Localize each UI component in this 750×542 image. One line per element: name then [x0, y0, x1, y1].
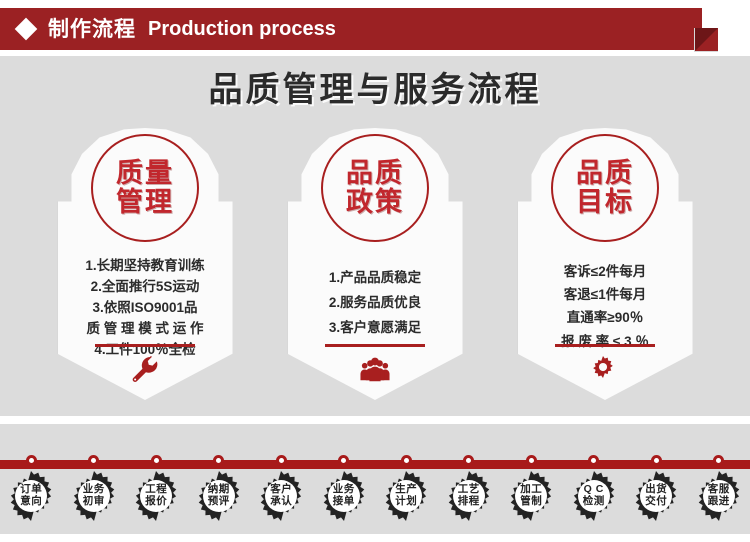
- people-group-icon: [360, 354, 390, 384]
- gear-badge-icon: 客户 承认: [255, 470, 307, 522]
- step-label: Q C 检测: [583, 484, 605, 508]
- wrench-icon: [130, 354, 160, 384]
- timeline-step[interactable]: 业务 初审: [66, 452, 122, 522]
- card-title-line1: 品质: [346, 159, 404, 188]
- timeline-step[interactable]: 生产 计划: [378, 452, 434, 522]
- timeline-dot-icon: [338, 455, 349, 466]
- card-title-circle: 品质 政策: [321, 134, 429, 242]
- list-item: 3.依照ISO9001品: [58, 298, 233, 319]
- gear-badge-icon: 纳期 预评: [193, 470, 245, 522]
- page-header: 制作流程 Production process: [0, 8, 750, 50]
- step-label: 出货 交付: [645, 484, 667, 508]
- card-title-line2: 目标: [576, 188, 634, 217]
- diamond-icon: [15, 18, 38, 41]
- quality-policy-card: 品质 政策 1.产品品质稳定 2.服务品质优良 3.客户意愿满足: [288, 128, 463, 400]
- timeline-step[interactable]: 出货 交付: [628, 452, 684, 522]
- list-item: 直通率≥90％: [518, 306, 693, 329]
- timeline-step[interactable]: 业务 接单: [316, 452, 372, 522]
- timeline-dot-icon: [276, 455, 287, 466]
- step-label: 订单 意向: [20, 484, 42, 508]
- page-title: 品质管理与服务流程: [0, 62, 750, 111]
- timeline-dot-icon: [151, 455, 162, 466]
- gear-badge-icon: 业务 初审: [68, 470, 120, 522]
- step-label: 业务 接单: [333, 484, 355, 508]
- list-item: 质 管 理 模 式 运 作: [58, 319, 233, 340]
- step-label-line2: 报价: [145, 496, 167, 508]
- card-title-line1: 品质: [576, 159, 634, 188]
- timeline-step[interactable]: 客服 跟进: [691, 452, 747, 522]
- card-title-circle: 品质 目标: [551, 134, 659, 242]
- timeline-dot-icon: [401, 455, 412, 466]
- card-title-line2: 政策: [346, 188, 404, 217]
- timeline-dot-icon: [26, 455, 37, 466]
- timeline-step[interactable]: 纳期 预评: [191, 452, 247, 522]
- gear-badge-icon: 工程 报价: [130, 470, 182, 522]
- gear-badge-icon: Q C 检测: [568, 470, 620, 522]
- gear-badge-icon: 订单 意向: [5, 470, 57, 522]
- card-row: 质量 管理 1.长期坚持教育训练 2.全面推行5S运动 3.依照ISO9001品…: [0, 128, 750, 400]
- step-label: 客户 承认: [270, 484, 292, 508]
- card-title-circle: 质量 管理: [91, 134, 199, 242]
- timeline-dot-icon: [588, 455, 599, 466]
- gear-badge-icon: 加工 管制: [505, 470, 557, 522]
- timeline-dot-icon: [651, 455, 662, 466]
- step-label-line2: 跟进: [708, 496, 730, 508]
- gear-icon: [590, 354, 620, 384]
- list-item: 报 废 率 ≤ 3 ％: [518, 330, 693, 353]
- timeline-step[interactable]: 加工 管制: [503, 452, 559, 522]
- list-item: 2.服务品质优良: [288, 291, 463, 316]
- timeline-dot-icon: [213, 455, 224, 466]
- process-timeline: 订单 意向 业务 初审 工程 报价 纳期: [0, 452, 750, 534]
- card-item-list: 1.产品品质稳定 2.服务品质优良 3.客户意愿满足: [288, 266, 463, 341]
- card-item-list: 客诉≤2件每月 客退≤1件每月 直通率≥90％ 报 废 率 ≤ 3 ％: [518, 260, 693, 353]
- list-item: 3.客户意愿满足: [288, 316, 463, 341]
- step-label-line2: 计划: [395, 496, 417, 508]
- header-title-cn: 制作流程: [48, 19, 136, 40]
- header-fold-corner: [694, 28, 718, 52]
- step-label-line2: 承认: [270, 496, 292, 508]
- step-label-line2: 初审: [83, 496, 105, 508]
- step-label: 工程 报价: [145, 484, 167, 508]
- quality-goals-card: 品质 目标 客诉≤2件每月 客退≤1件每月 直通率≥90％ 报 废 率 ≤ 3 …: [518, 128, 693, 400]
- timeline-dot-icon: [713, 455, 724, 466]
- step-label-line2: 接单: [333, 496, 355, 508]
- timeline-dot-icon: [463, 455, 474, 466]
- timeline-dot-icon: [526, 455, 537, 466]
- card-divider: [325, 344, 425, 347]
- step-label: 客服 跟进: [708, 484, 730, 508]
- quality-management-card: 质量 管理 1.长期坚持教育训练 2.全面推行5S运动 3.依照ISO9001品…: [58, 128, 233, 400]
- list-item: 客诉≤2件每月: [518, 260, 693, 283]
- gear-badge-icon: 生产 计划: [380, 470, 432, 522]
- timeline-step[interactable]: 订单 意向: [3, 452, 59, 522]
- list-item: 客退≤1件每月: [518, 283, 693, 306]
- card-divider: [555, 344, 655, 347]
- step-label: 纳期 预评: [208, 484, 230, 508]
- step-label-line2: 预评: [208, 496, 230, 508]
- list-item: 1.产品品质稳定: [288, 266, 463, 291]
- step-label: 工艺 排程: [458, 484, 480, 508]
- timeline-step[interactable]: Q C 检测: [566, 452, 622, 522]
- step-label-line2: 检测: [583, 496, 605, 508]
- timeline-step[interactable]: 工艺 排程: [441, 452, 497, 522]
- step-label-line2: 意向: [20, 496, 42, 508]
- gear-badge-icon: 出货 交付: [630, 470, 682, 522]
- timeline-dot-icon: [88, 455, 99, 466]
- list-item: 1.长期坚持教育训练: [58, 256, 233, 277]
- step-label-line2: 排程: [458, 496, 480, 508]
- timeline-step[interactable]: 工程 报价: [128, 452, 184, 522]
- gear-badge-icon: 客服 跟进: [693, 470, 745, 522]
- gear-badge-icon: 工艺 排程: [443, 470, 495, 522]
- timeline-step[interactable]: 客户 承认: [253, 452, 309, 522]
- header-title-en: Production process: [148, 19, 336, 39]
- step-label-line2: 管制: [520, 496, 542, 508]
- card-title-line2: 管理: [116, 188, 174, 217]
- list-item: 2.全面推行5S运动: [58, 277, 233, 298]
- gear-badge-icon: 业务 接单: [318, 470, 370, 522]
- step-label: 业务 初审: [83, 484, 105, 508]
- card-title-line1: 质量: [116, 159, 174, 188]
- step-label: 生产 计划: [395, 484, 417, 508]
- header-bar: 制作流程 Production process: [0, 8, 702, 50]
- card-divider: [95, 344, 195, 347]
- header-fold-inner: [695, 28, 718, 51]
- step-label-line2: 交付: [645, 496, 667, 508]
- step-label: 加工 管制: [520, 484, 542, 508]
